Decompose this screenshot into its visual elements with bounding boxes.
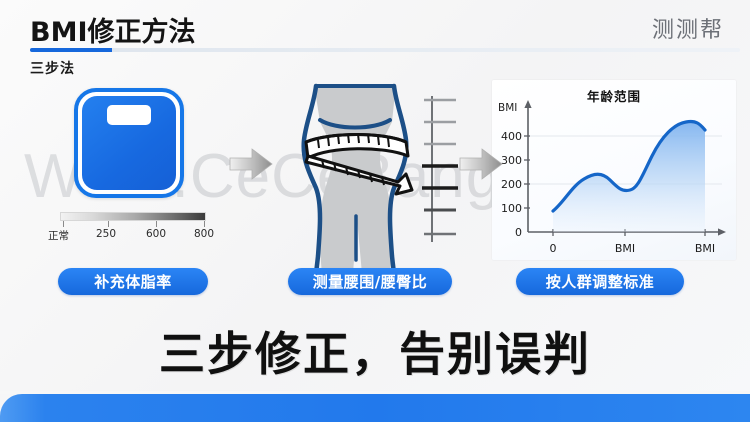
title-underline: [30, 48, 740, 52]
scale-display-window: [107, 105, 151, 125]
page-subtitle: 三步法: [30, 58, 75, 78]
headline-text: 三步修正，告别误判: [0, 318, 750, 384]
chart-ytick-400: 400: [496, 130, 522, 143]
grad-label-1: 250: [96, 228, 116, 240]
chart-title: 年龄范围: [492, 86, 736, 105]
page-title: BMI修正方法: [30, 10, 196, 49]
panel-waist-measure: [266, 78, 466, 296]
arrow-step-1-to-2-icon: [228, 146, 274, 182]
chart-xtick-end: BMI: [688, 242, 722, 255]
grad-label-3: 800: [194, 228, 214, 240]
panel-body-fat: 正常 250 600 800: [36, 86, 226, 296]
grad-label-0: 正常: [48, 228, 69, 243]
fat-gradient-labels: 正常 250 600 800: [48, 228, 220, 244]
bmi-curve-chart-icon: 年龄范围 BMI 400 300 200 100 0 0 BMI BMI: [492, 80, 736, 260]
chart-ytick-100: 100: [496, 202, 522, 215]
grad-label-2: 600: [146, 228, 166, 240]
torso-measuring-tape-icon: [280, 78, 430, 278]
pill-button-waist-measure[interactable]: 测量腰围/腰臀比: [288, 268, 452, 295]
slide-root: Www.CeCeBang.Com 测测帮 BMI修正方法 三步法 正常 250 …: [0, 0, 750, 422]
chart-yaxis-label: BMI: [498, 102, 517, 114]
chart-xtick-mid: BMI: [608, 242, 642, 255]
fat-gradient-ticks: [60, 221, 206, 228]
vertical-ruler-icon: [418, 94, 460, 244]
fat-gradient-bar: [60, 212, 206, 221]
arrow-step-2-to-3-icon: [458, 146, 504, 182]
chart-plot: [492, 80, 736, 260]
weight-scale-icon: [74, 88, 184, 198]
header: BMI修正方法 三步法: [0, 0, 750, 66]
pill-button-population-standard[interactable]: 按人群调整标准: [516, 268, 684, 295]
panel-population-standard: 年龄范围 BMI 400 300 200 100 0 0 BMI BMI: [486, 78, 738, 296]
chart-ytick-0: 0: [496, 226, 522, 239]
chart-area-fill: [553, 121, 705, 232]
footer-bar: [0, 394, 750, 422]
pill-button-body-fat[interactable]: 补充体脂率: [58, 268, 208, 295]
chart-xtick-0: 0: [536, 242, 570, 255]
